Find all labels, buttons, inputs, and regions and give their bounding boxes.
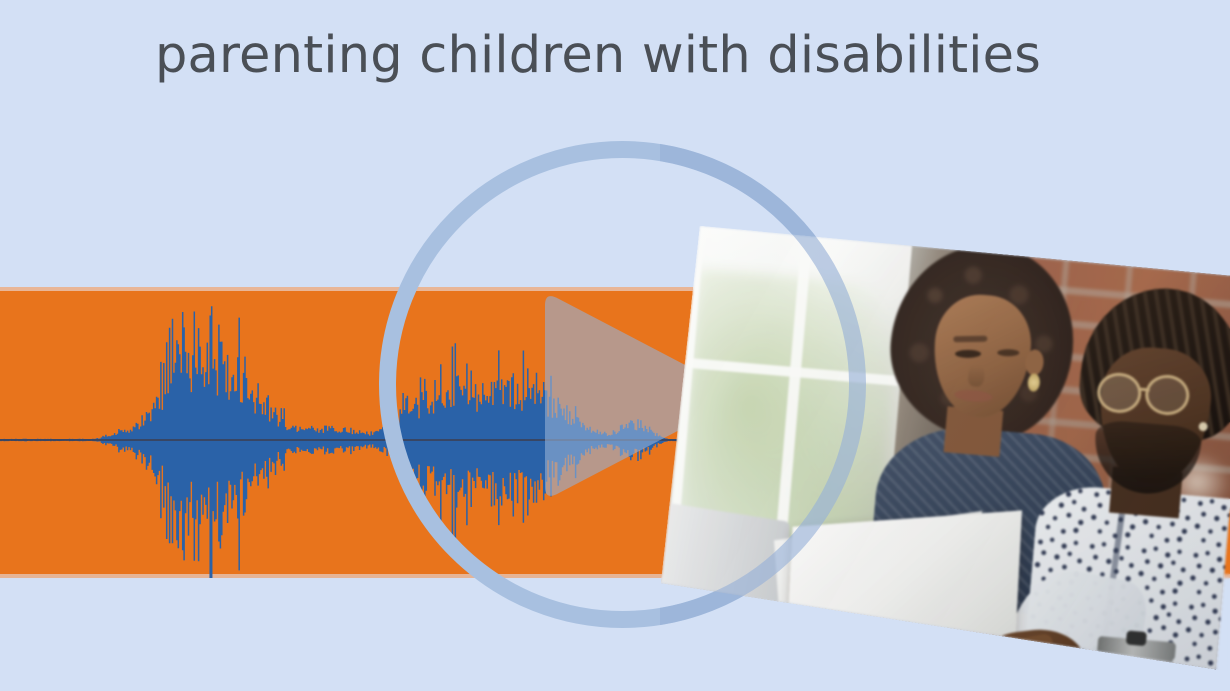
- photo-drinking-glass: [1172, 677, 1230, 691]
- page-title: parenting children with disabilities: [0, 27, 1230, 86]
- photo-color-tone: [623, 205, 1230, 691]
- episode-cover-canvas: parenting children with disabilities: [0, 0, 1230, 691]
- photo-image: [623, 205, 1230, 691]
- photo-man-finger-2: [977, 652, 1051, 678]
- photo-laptop-base: [692, 614, 954, 691]
- photo-man-finger-3: [976, 673, 1043, 691]
- photo-laptop-keyboard: [722, 620, 911, 669]
